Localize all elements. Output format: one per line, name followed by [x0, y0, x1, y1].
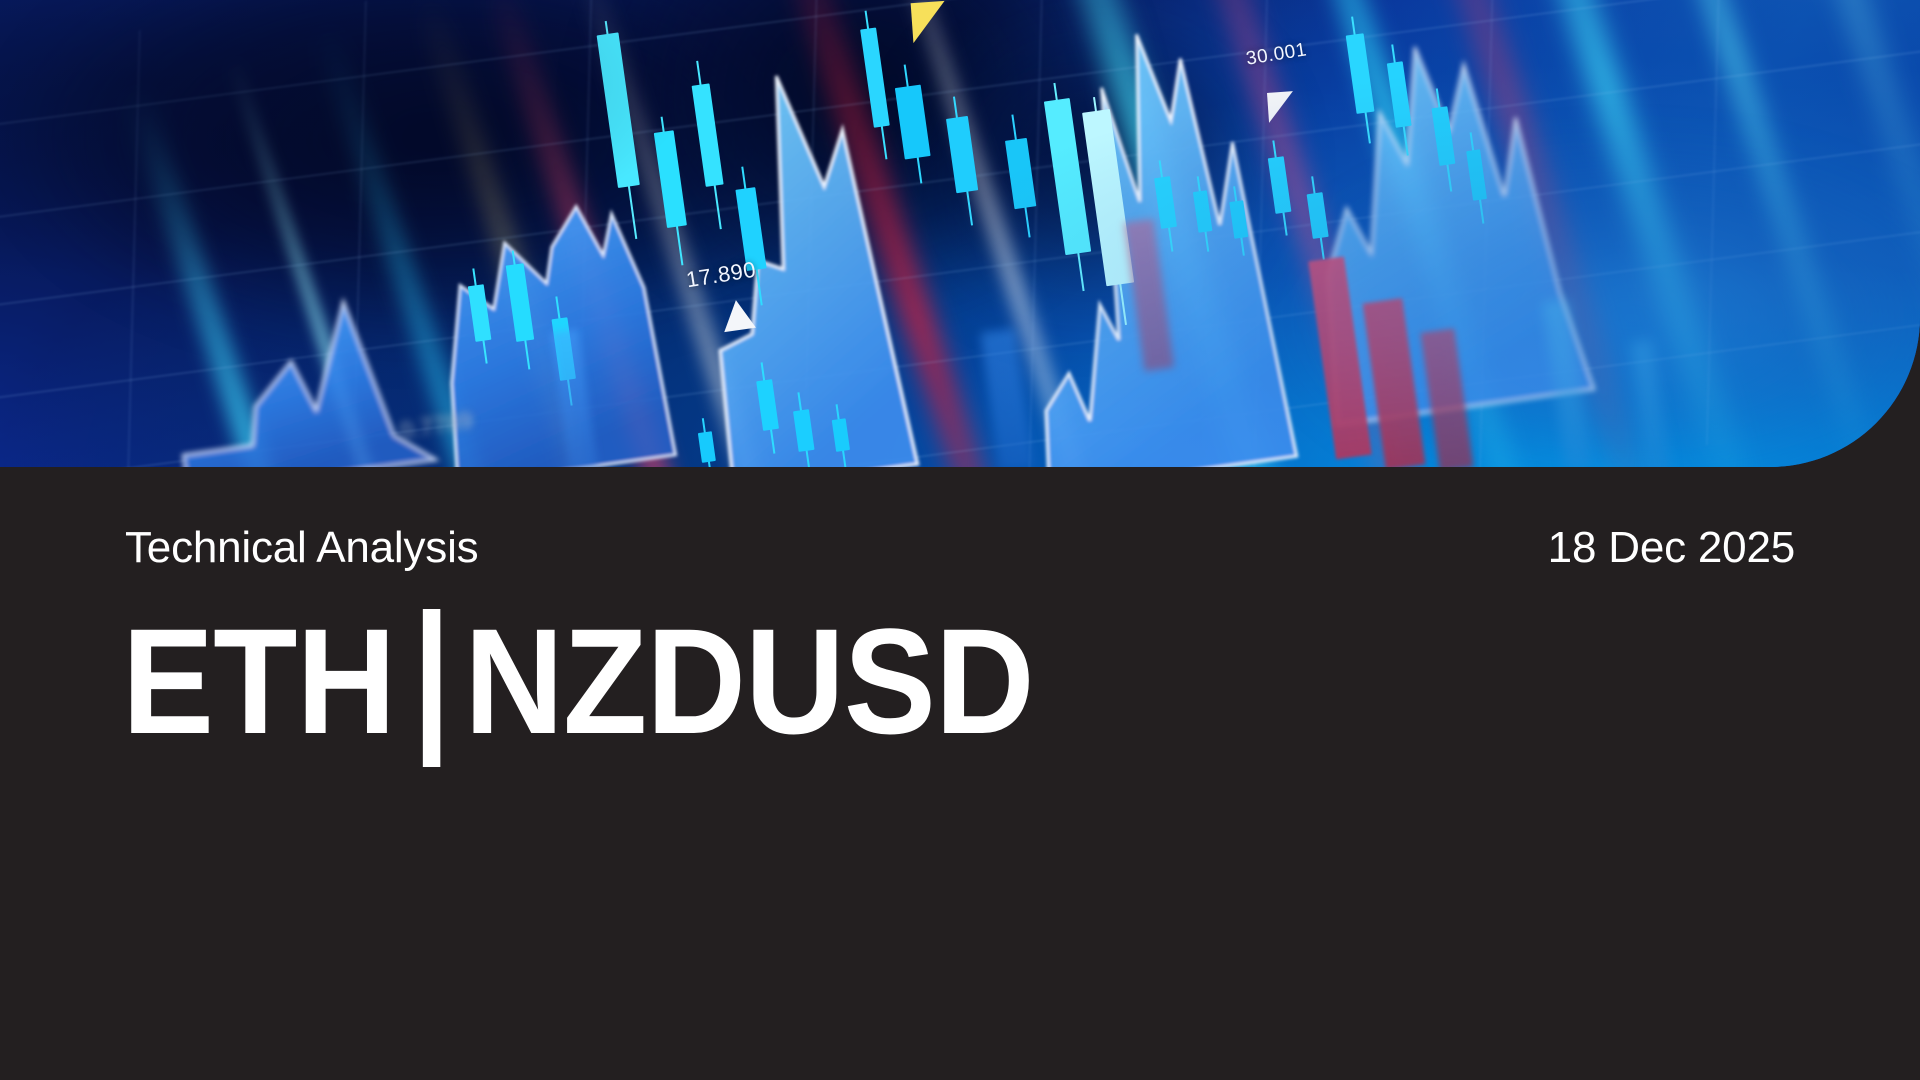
- hero-image: 17.890 30.001 0.7789: [0, 0, 1920, 467]
- page-title: ETH NZDUSD: [122, 602, 1034, 760]
- symbol-primary: ETH: [122, 606, 395, 756]
- hero-candlesticks: [0, 0, 1920, 467]
- title-separator-bar: [423, 609, 440, 767]
- triangle-marker-yellow: [911, 1, 948, 43]
- triangle-marker-white-right: [1267, 91, 1295, 123]
- symbol-secondary: NZDUSD: [464, 606, 1033, 756]
- publish-date: 18 Dec 2025: [1548, 526, 1795, 570]
- article-meta-panel: Technical Analysis 18 Dec 2025 ETH NZDUS…: [0, 467, 1920, 1080]
- category-label: Technical Analysis: [125, 526, 478, 570]
- meta-row: Technical Analysis 18 Dec 2025: [125, 526, 1795, 570]
- hero-artwork: 17.890 30.001 0.7789: [0, 0, 1920, 467]
- triangle-marker-white-left: [720, 298, 756, 332]
- article-hero-card: 17.890 30.001 0.7789 Technical Analysis …: [0, 0, 1920, 1080]
